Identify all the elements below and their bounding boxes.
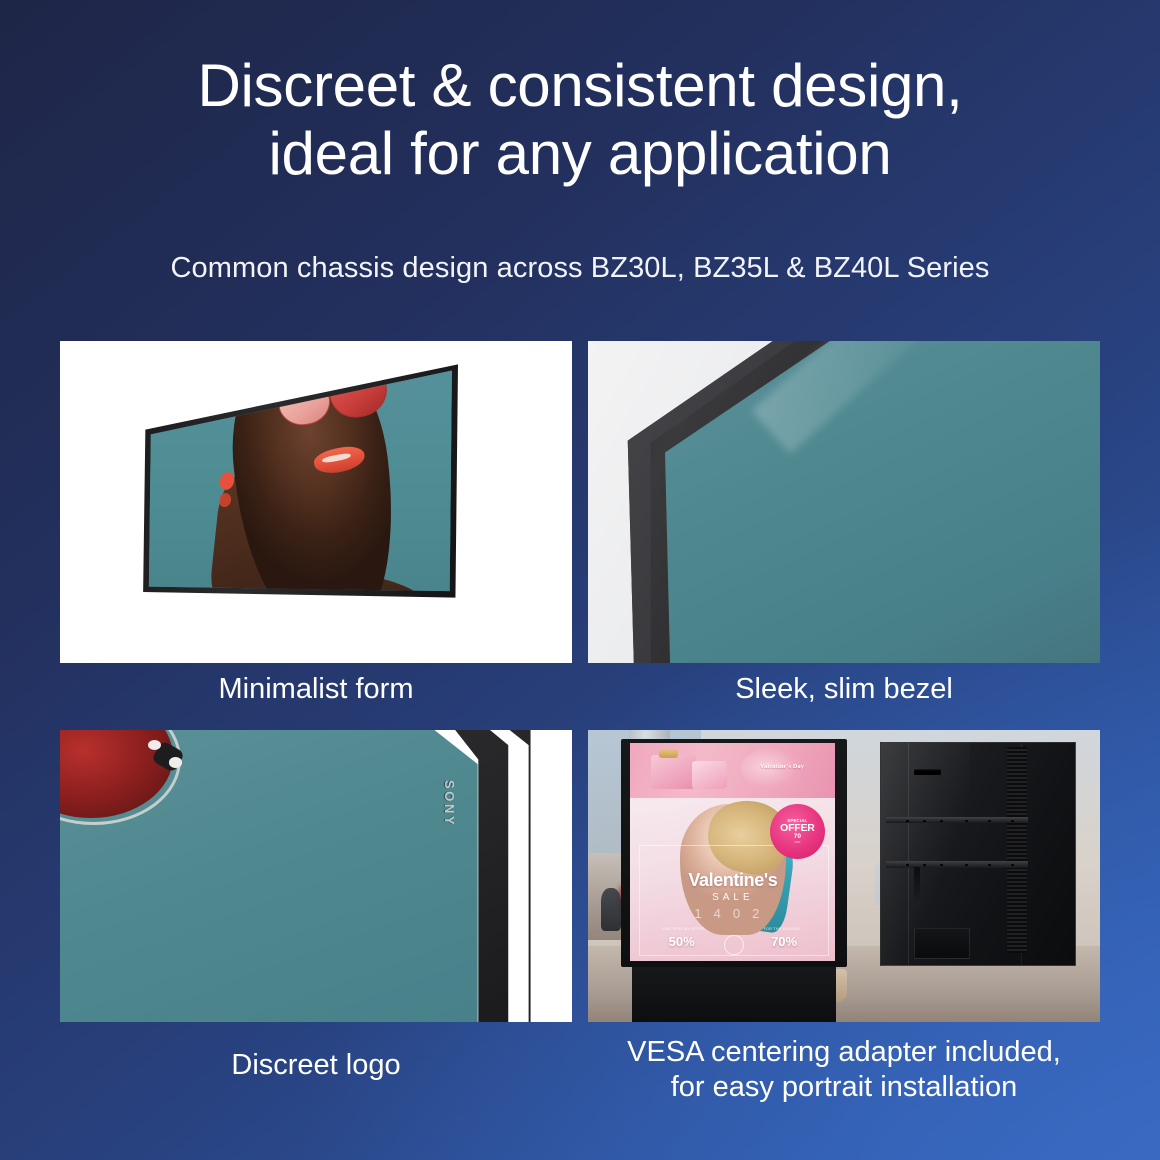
caption-vesa-line-2: for easy portrait installation (588, 1070, 1100, 1105)
rear-connector-recess (914, 928, 970, 959)
vesa-centering-adapter-bar-lower (886, 861, 1028, 867)
tile-vesa-portrait: Valentine's Day SPECIAL OFFER 70 OFF Val… (588, 730, 1100, 1022)
display-unit-angled (138, 361, 458, 641)
signage-offer-badge: SPECIAL OFFER 70 OFF (770, 804, 825, 859)
caption-discreet-logo: Discreet logo (60, 1048, 572, 1083)
headline-line-1: Discreet & consistent design, (0, 52, 1160, 120)
caption-sleek-slim-bezel: Sleek, slim bezel (588, 672, 1100, 707)
signage-date-month: 02 (733, 906, 771, 921)
display-rear-view (880, 742, 1077, 966)
mall-shopper-figure (601, 888, 621, 932)
headline-line-2: ideal for any application (0, 120, 1160, 188)
signage-title: Valentine's (630, 870, 835, 891)
signage-pedestal (632, 958, 837, 1022)
signage-date-day: 14 (694, 906, 732, 921)
signage-date: 1402 (630, 906, 835, 921)
signage-label-left: OUR SPECIAL OFFER (643, 927, 725, 931)
signage-main-panel: SPECIAL OFFER 70 OFF Valentine's SALE 14… (630, 798, 835, 961)
rear-vent-grille (1007, 747, 1026, 953)
vesa-hole (988, 820, 991, 822)
vesa-hole (940, 820, 943, 822)
signage-header-band: Valentine's Day (630, 743, 835, 797)
signage-perfume-cap (659, 749, 677, 758)
vesa-centering-adapter-bar-upper (886, 817, 1028, 823)
signage-header-text: Valentine's Day (733, 763, 831, 770)
vesa-hole (906, 820, 909, 822)
signage-label-right: FOR THE HOLIDAY (741, 927, 823, 931)
signage-perfume-bottle (651, 755, 696, 789)
vesa-hole (906, 864, 909, 866)
logo-tile-hinge-dot-lower (169, 757, 182, 768)
rear-cable-channel (914, 867, 920, 905)
page-title: Discreet & consistent design, ideal for … (0, 52, 1160, 188)
caption-minimalist-form: Minimalist form (60, 672, 572, 707)
tile-minimalist-form (60, 341, 572, 663)
vesa-hole (1011, 820, 1014, 822)
vesa-hole (1011, 864, 1014, 866)
vesa-hole (965, 864, 968, 866)
signage-screen: Valentine's Day SPECIAL OFFER 70 OFF Val… (630, 743, 835, 961)
rear-seam-left (908, 743, 909, 965)
slide-root: Discreet & consistent design, ideal for … (0, 0, 1160, 1160)
caption-vesa-portrait: VESA centering adapter included, for eas… (588, 1035, 1100, 1106)
signage-perfume-bottle-2 (692, 761, 727, 789)
signage-percent-left: 50% (647, 934, 717, 949)
sony-logo: SONY (442, 780, 457, 827)
signage-subtitle: SALE (630, 892, 835, 903)
rear-handle-slot (914, 769, 941, 775)
signage-percent-right: 70% (749, 934, 819, 949)
page-subtitle: Common chassis design across BZ30L, BZ35… (0, 252, 1160, 285)
vesa-hole (988, 864, 991, 866)
tile-sleek-slim-bezel (588, 341, 1100, 663)
badge-offer-label: OFFER (780, 823, 815, 834)
badge-off-label: OFF (794, 841, 800, 844)
caption-vesa-line-1: VESA centering adapter included, (588, 1035, 1100, 1070)
vesa-hole (965, 820, 968, 822)
tile-discreet-logo: SONY (60, 730, 572, 1022)
vesa-hole (923, 864, 926, 866)
vesa-hole (923, 820, 926, 822)
vesa-hole (940, 864, 943, 866)
